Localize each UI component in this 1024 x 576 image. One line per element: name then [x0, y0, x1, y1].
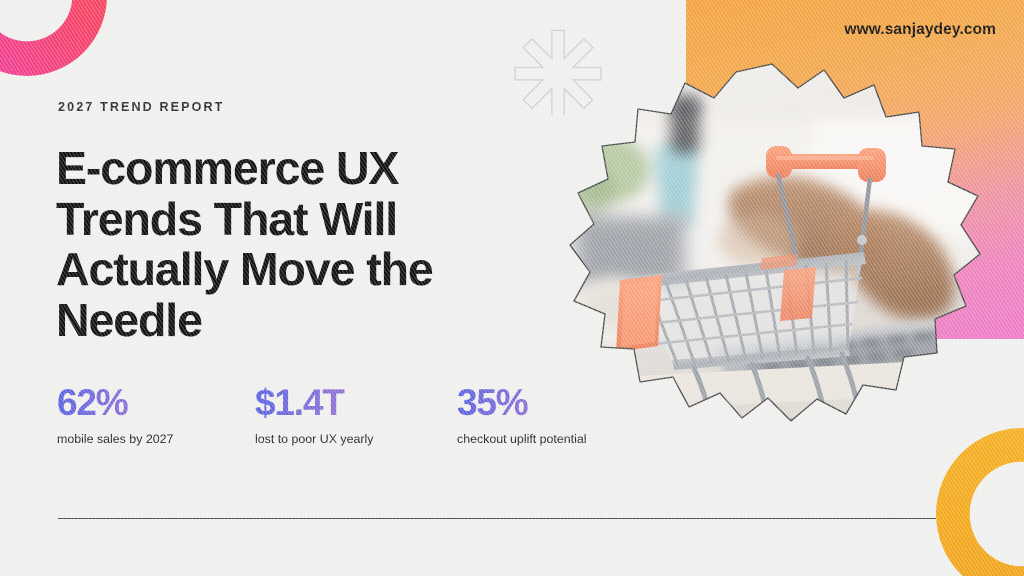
stat-value: $1.4T — [255, 381, 425, 424]
stat-label: lost to poor UX yearly — [255, 431, 425, 447]
page-title: E-commerce UX Trends That Will Actually … — [56, 143, 526, 345]
stats-row: 62% mobile sales by 2027 $1.4T lost to p… — [57, 381, 617, 447]
stat-value: 35% — [457, 381, 617, 424]
headline-line-2: Trends That Will — [56, 194, 526, 245]
stat-label: mobile sales by 2027 — [57, 431, 223, 447]
divider-rule — [58, 518, 936, 519]
eyebrow-label: 2027 TREND REPORT — [58, 100, 224, 114]
stat-item: 62% mobile sales by 2027 — [57, 381, 223, 447]
headline-line-1: E-commerce UX — [56, 143, 526, 194]
stat-value: 62% — [57, 381, 223, 424]
hero-photo-starburst — [562, 62, 982, 494]
stat-item: 35% checkout uplift potential — [457, 381, 617, 447]
pink-ring-decoration — [0, 0, 107, 76]
headline-line-4: Needle — [56, 295, 526, 346]
stat-item: $1.4T lost to poor UX yearly — [255, 381, 425, 447]
stat-label: checkout uplift potential — [457, 431, 617, 447]
headline-line-3: Actually Move the — [56, 244, 526, 295]
site-url[interactable]: www.sanjaydey.com — [844, 21, 996, 39]
slide-canvas: www.sanjaydey.com — [0, 0, 1024, 576]
